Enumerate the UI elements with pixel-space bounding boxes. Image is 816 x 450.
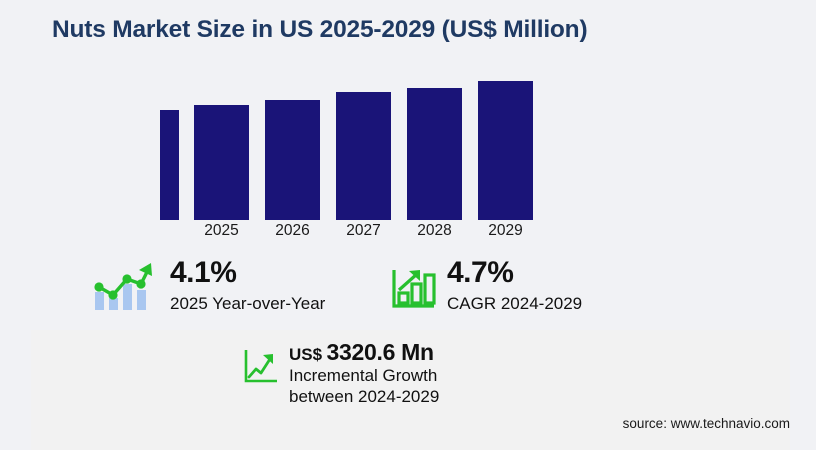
bar-chart-bars bbox=[0, 70, 816, 220]
incremental-growth-currency: US$ bbox=[289, 345, 322, 364]
incremental-growth-value: US$ 3320.6 Mn bbox=[289, 340, 439, 365]
bar-chart-arrow-icon bbox=[390, 268, 436, 315]
x-label-2025: 2025 bbox=[194, 222, 249, 240]
x-label-2028: 2028 bbox=[407, 222, 462, 240]
infographic-root: Nuts Market Size in US 2025-2029 (US$ Mi… bbox=[0, 0, 816, 450]
bar-2029 bbox=[478, 81, 533, 220]
x-label-2029: 2029 bbox=[478, 222, 533, 240]
stat-cagr: 4.7% CAGR 2024-2029 bbox=[390, 260, 650, 322]
incremental-growth-amount: 3320.6 Mn bbox=[327, 339, 434, 365]
stat-year-over-year-label: 2025 Year-over-Year bbox=[170, 294, 325, 314]
line-chart-growth-icon bbox=[92, 260, 154, 317]
incremental-growth-line-1: Incremental Growth bbox=[289, 365, 439, 386]
bar-2025 bbox=[194, 105, 249, 220]
x-label-2027: 2027 bbox=[336, 222, 391, 240]
bar-2028 bbox=[407, 88, 462, 220]
bar-chart: 2025 2026 2027 2028 2029 bbox=[0, 70, 816, 245]
stat-cagr-label: CAGR 2024-2029 bbox=[447, 294, 582, 314]
bar-2027 bbox=[336, 92, 391, 220]
incremental-growth-text: US$ 3320.6 Mn Incremental Growth between… bbox=[289, 340, 439, 407]
source-attribution: source: www.technavio.com bbox=[623, 416, 790, 431]
stat-cagr-value: 4.7% bbox=[447, 256, 513, 289]
stat-year-over-year: 4.1% 2025 Year-over-Year bbox=[92, 260, 352, 322]
stat-year-over-year-text: 4.1% 2025 Year-over-Year bbox=[170, 258, 325, 314]
bar-chart-x-axis-labels: 2025 2026 2027 2028 2029 bbox=[0, 222, 816, 246]
page-title: Nuts Market Size in US 2025-2029 (US$ Mi… bbox=[52, 16, 587, 44]
x-label-2026: 2026 bbox=[265, 222, 320, 240]
trend-up-icon bbox=[244, 348, 280, 389]
bar-2026 bbox=[265, 100, 320, 220]
incremental-growth-line-2: between 2024-2029 bbox=[289, 386, 439, 407]
stat-cagr-text: 4.7% CAGR 2024-2029 bbox=[447, 258, 582, 314]
stat-year-over-year-value: 4.1% bbox=[170, 256, 236, 289]
bar-0 bbox=[160, 110, 179, 220]
